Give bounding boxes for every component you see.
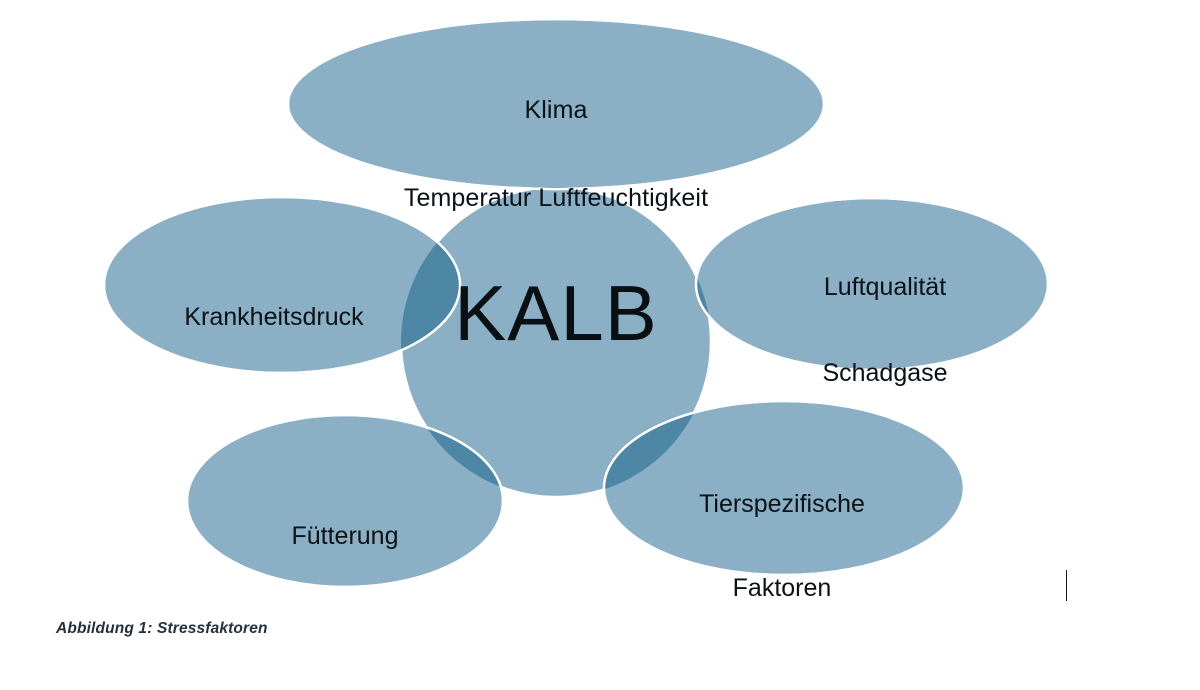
node-label-klima-line-1: Klima	[288, 92, 824, 129]
node-label-tierspezifische-line-2: Faktoren	[608, 570, 956, 607]
node-label-tierspezifische: Tierspezifische Faktoren	[608, 449, 956, 644]
stressfaktoren-diagram: Klima Temperatur Luftfeuchtigkeit Krankh…	[0, 0, 1200, 690]
node-label-klima: Klima Temperatur Luftfeuchtigkeit	[288, 55, 824, 254]
node-label-luftqualitaet-line-1: Luftqualität	[716, 269, 1054, 306]
node-label-fuetterung: Fütterung	[186, 481, 504, 592]
text-cursor-caret[interactable]	[1066, 570, 1067, 601]
node-label-luftqualitaet: Luftqualität Schadgase	[716, 232, 1054, 429]
center-label-kalb: KALB	[386, 274, 726, 352]
node-label-klima-line-2: Temperatur Luftfeuchtigkeit	[288, 180, 824, 217]
node-label-luftqualitaet-line-2: Schadgase	[716, 355, 1054, 392]
node-label-fuetterung-line-1: Fütterung	[186, 518, 504, 555]
node-label-tierspezifische-line-1: Tierspezifische	[608, 486, 956, 523]
figure-caption: Abbildung 1: Stressfaktoren	[56, 620, 268, 638]
